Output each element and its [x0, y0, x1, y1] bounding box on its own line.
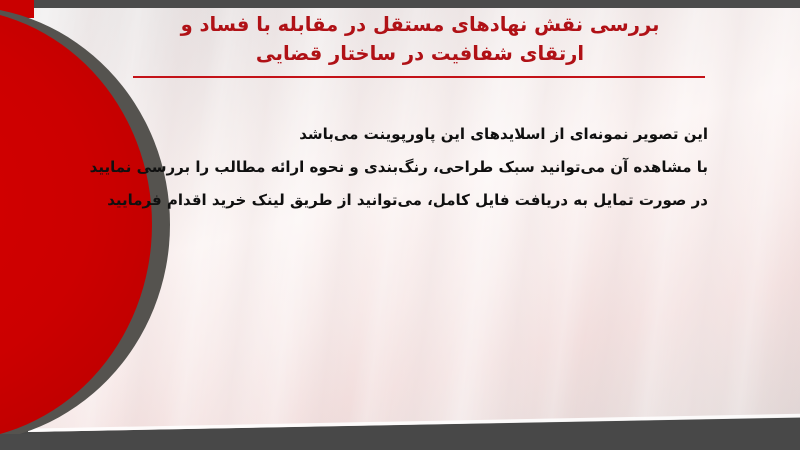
slide-body-text: این تصویر نمونه‌ای از اسلایدهای این پاور…	[68, 118, 708, 217]
title-line-1: بررسی نقش نهادهای مستقل در مقابله با فسا…	[120, 10, 720, 39]
body-line-1: این تصویر نمونه‌ای از اسلایدهای این پاور…	[68, 118, 708, 151]
slide-title: بررسی نقش نهادهای مستقل در مقابله با فسا…	[120, 10, 720, 68]
bottom-left-gray-corner-shape	[0, 434, 40, 450]
title-line-2: ارتقای شفافیت در ساختار قضایی	[120, 39, 720, 68]
title-underline-rule	[133, 76, 705, 78]
presentation-slide: بررسی نقش نهادهای مستقل در مقابله با فسا…	[0, 0, 800, 450]
body-line-2: با مشاهده آن می‌توانید سبک طراحی، رنگ‌بن…	[68, 151, 708, 184]
body-line-3: در صورت تمایل به دریافت فایل کامل، می‌تو…	[68, 184, 708, 217]
